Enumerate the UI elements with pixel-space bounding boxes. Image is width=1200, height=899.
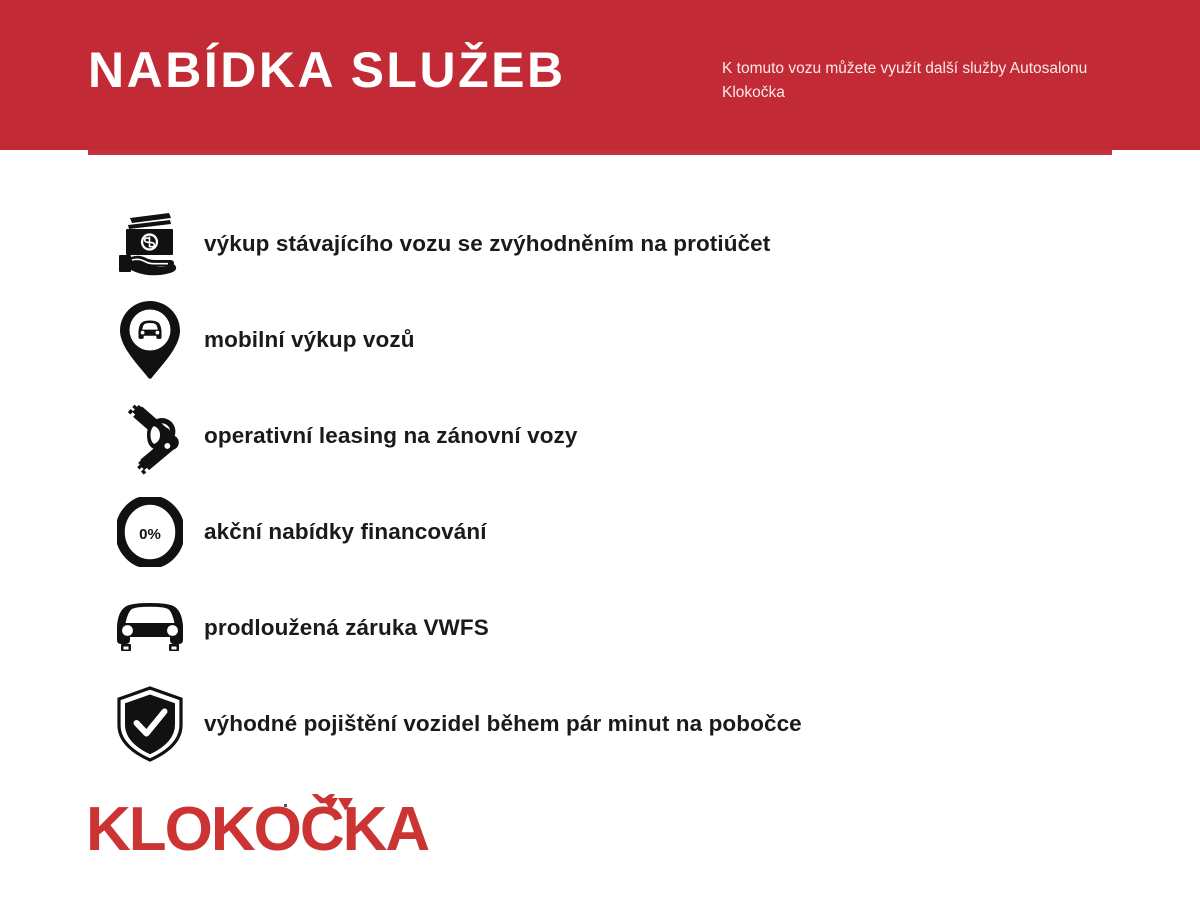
service-item-label: prodloužená záruka VWFS [204, 615, 489, 641]
service-item-label: mobilní výkup vozů [204, 327, 415, 353]
service-item-label: výkup stávajícího vozu se zvýhodněním na… [204, 231, 770, 257]
service-item: 0% akční nabídky financování [108, 484, 1108, 580]
page-title: NABÍDKA SLUŽEB [88, 45, 566, 95]
service-item: výkup stávajícího vozu se zvýhodněním na… [108, 196, 1108, 292]
brand-logo-text: KLOKOČKA [86, 795, 429, 864]
service-item-label: výhodné pojištění vozidel během pár minu… [204, 711, 802, 737]
zero-percent-circle-icon: 0% [108, 490, 192, 574]
hand-holding-money-icon [108, 202, 192, 286]
car-front-icon [108, 586, 192, 670]
header-subtitle: K tomuto vozu můžete využít další služby… [722, 57, 1142, 105]
service-item-label: operativní leasing na zánovní vozy [204, 423, 578, 449]
map-pin-car-icon [108, 298, 192, 382]
brand-logo: KLOKOČKA [86, 788, 486, 868]
header-underline [88, 150, 1112, 155]
service-item: prodloužená záruka VWFS [108, 580, 1108, 676]
service-item: mobilní výkup vozů [108, 292, 1108, 388]
service-item-label: akční nabídky financování [204, 519, 487, 545]
car-keys-icon [108, 394, 192, 478]
service-item: výhodné pojištění vozidel během pár minu… [108, 676, 1108, 772]
shield-check-icon [108, 682, 192, 766]
zero-percent-label: 0% [139, 526, 161, 543]
service-list: výkup stávajícího vozu se zvýhodněním na… [108, 196, 1108, 772]
service-item: operativní leasing na zánovní vozy [108, 388, 1108, 484]
